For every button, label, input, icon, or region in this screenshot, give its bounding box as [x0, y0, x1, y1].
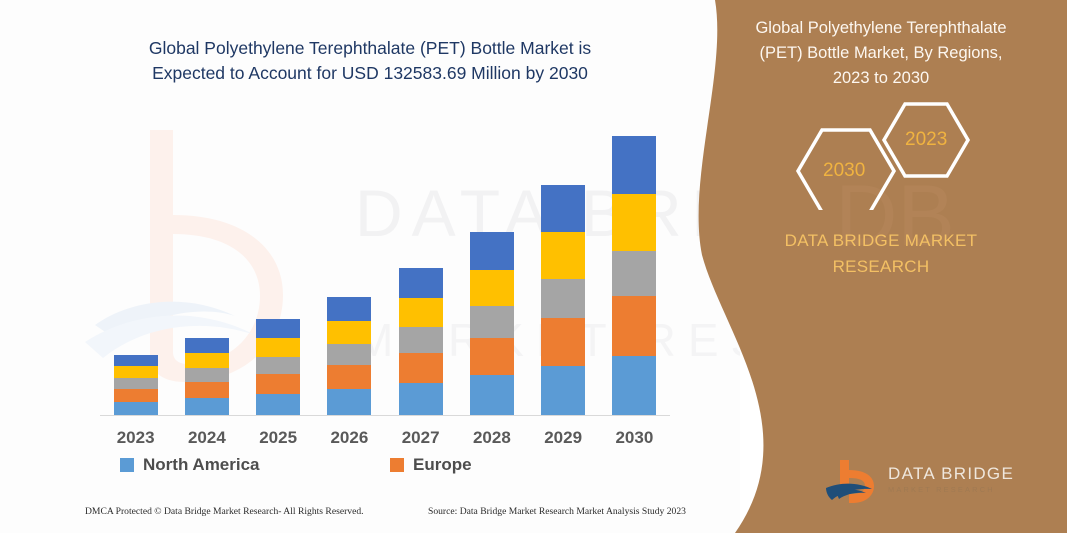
bar-segment-asia-pacific-2023 — [114, 378, 158, 389]
chart-title-line-2: Expected to Account for USD 132583.69 Mi… — [60, 61, 680, 86]
bar-segment-south-america-2028 — [470, 270, 514, 306]
bar-segment-north-america-2023 — [114, 402, 158, 416]
panel-title-line-1: Global Polyethylene Terephthalate — [707, 16, 1055, 41]
bar-segment-asia-pacific-2028 — [470, 306, 514, 338]
bar-segment-south-america-2030 — [612, 194, 656, 251]
bar-2029 — [541, 185, 585, 416]
chart-panel: DATA BRIDGE MARKET RESEARCH Global Polye… — [0, 0, 740, 533]
data-bridge-logo-subtitle: MARKET RESEARCH — [888, 485, 995, 494]
bar-segment-europe-2026 — [327, 365, 371, 389]
panel-title: Global Polyethylene Terephthalate (PET) … — [707, 16, 1055, 90]
x-axis-label-2030: 2030 — [598, 428, 670, 448]
bar-segment-middle-east-and-africa-2026 — [327, 297, 371, 321]
bar-segment-europe-2023 — [114, 389, 158, 402]
legend-swatch-icon — [120, 458, 134, 472]
bar-segment-south-america-2025 — [256, 338, 300, 357]
x-axis-label-2029: 2029 — [527, 428, 599, 448]
bar-segment-asia-pacific-2026 — [327, 344, 371, 365]
chart-title-line-1: Global Polyethylene Terephthalate (PET) … — [60, 36, 680, 61]
chart-title: Global Polyethylene Terephthalate (PET) … — [60, 36, 680, 87]
legend-item-north-america[interactable]: North America — [120, 455, 260, 475]
bar-segment-middle-east-and-africa-2027 — [399, 268, 443, 298]
bar-segment-north-america-2026 — [327, 389, 371, 416]
bar-segment-middle-east-and-africa-2024 — [185, 338, 229, 353]
chart-legend: North AmericaEurope — [100, 455, 670, 481]
bar-segment-north-america-2025 — [256, 394, 300, 416]
bar-segment-middle-east-and-africa-2030 — [612, 136, 656, 194]
bar-segment-south-america-2029 — [541, 232, 585, 279]
x-axis-label-2023: 2023 — [100, 428, 172, 448]
legend-label: Europe — [413, 455, 472, 475]
bar-segment-south-america-2027 — [399, 298, 443, 327]
legend-swatch-icon — [390, 458, 404, 472]
bar-segment-north-america-2028 — [470, 375, 514, 416]
bar-segment-europe-2028 — [470, 338, 514, 375]
plot-area — [100, 120, 670, 416]
bar-segment-north-america-2027 — [399, 383, 443, 416]
bar-segment-europe-2027 — [399, 353, 443, 383]
bar-2024 — [185, 338, 229, 416]
bar-segment-asia-pacific-2029 — [541, 279, 585, 318]
bar-2027 — [399, 268, 443, 416]
x-axis-label-2026: 2026 — [313, 428, 385, 448]
footer: DMCA Protected © Data Bridge Market Rese… — [0, 506, 700, 528]
bar-2030 — [612, 136, 656, 416]
bar-segment-europe-2029 — [541, 318, 585, 366]
panel-brand-text: DATA BRIDGE MARKET RESEARCH — [707, 228, 1055, 281]
bar-segment-europe-2024 — [185, 382, 229, 398]
data-bridge-logo-name: DATA BRIDGE — [888, 464, 1014, 484]
bar-segment-asia-pacific-2030 — [612, 251, 656, 296]
bar-2028 — [470, 232, 514, 416]
x-axis-labels: 20232024202520262027202820292030 — [100, 428, 670, 454]
bar-segment-asia-pacific-2027 — [399, 327, 443, 353]
x-axis-label-2027: 2027 — [385, 428, 457, 448]
bar-segment-europe-2025 — [256, 374, 300, 394]
hexagon-2030-label: 2030 — [823, 160, 865, 182]
x-axis-line — [100, 415, 670, 416]
data-bridge-logo-mark — [822, 458, 882, 506]
x-axis-label-2024: 2024 — [171, 428, 243, 448]
bar-segment-north-america-2029 — [541, 366, 585, 416]
brand-line-1: DATA BRIDGE MARKET — [707, 228, 1055, 254]
right-info-panel: DB Global Polyethylene Terephthalate (PE… — [687, 0, 1067, 533]
x-axis-label-2028: 2028 — [456, 428, 528, 448]
data-bridge-logo: DATA BRIDGE MARKET RESEARCH — [822, 458, 1037, 510]
legend-label: North America — [143, 455, 260, 475]
legend-item-europe[interactable]: Europe — [390, 455, 472, 475]
bar-segment-south-america-2026 — [327, 321, 371, 344]
hexagon-outlines — [777, 100, 1007, 210]
bar-segment-south-america-2023 — [114, 366, 158, 378]
panel-title-line-2: (PET) Bottle Market, By Regions, — [707, 41, 1055, 66]
brand-line-2: RESEARCH — [707, 254, 1055, 280]
bar-segment-asia-pacific-2025 — [256, 357, 300, 374]
footer-source-text: Source: Data Bridge Market Research Mark… — [428, 506, 686, 517]
panel-title-line-3: 2023 to 2030 — [707, 66, 1055, 91]
bar-segment-middle-east-and-africa-2029 — [541, 185, 585, 232]
hexagon-2023-label: 2023 — [905, 129, 947, 151]
footer-dmca-text: DMCA Protected © Data Bridge Market Rese… — [85, 506, 364, 517]
bar-segment-europe-2030 — [612, 296, 656, 356]
bar-segment-asia-pacific-2024 — [185, 368, 229, 382]
bar-segment-middle-east-and-africa-2028 — [470, 232, 514, 270]
bar-segment-north-america-2030 — [612, 356, 656, 416]
x-axis-label-2025: 2025 — [242, 428, 314, 448]
bar-segment-north-america-2024 — [185, 398, 229, 416]
bar-2023 — [114, 355, 158, 416]
bar-2026 — [327, 297, 371, 416]
bar-2025 — [256, 319, 300, 416]
bar-segment-south-america-2024 — [185, 353, 229, 368]
hexagon-badges: 2023 2030 — [777, 100, 1007, 210]
bar-segment-middle-east-and-africa-2025 — [256, 319, 300, 338]
bar-segment-middle-east-and-africa-2023 — [114, 355, 158, 366]
